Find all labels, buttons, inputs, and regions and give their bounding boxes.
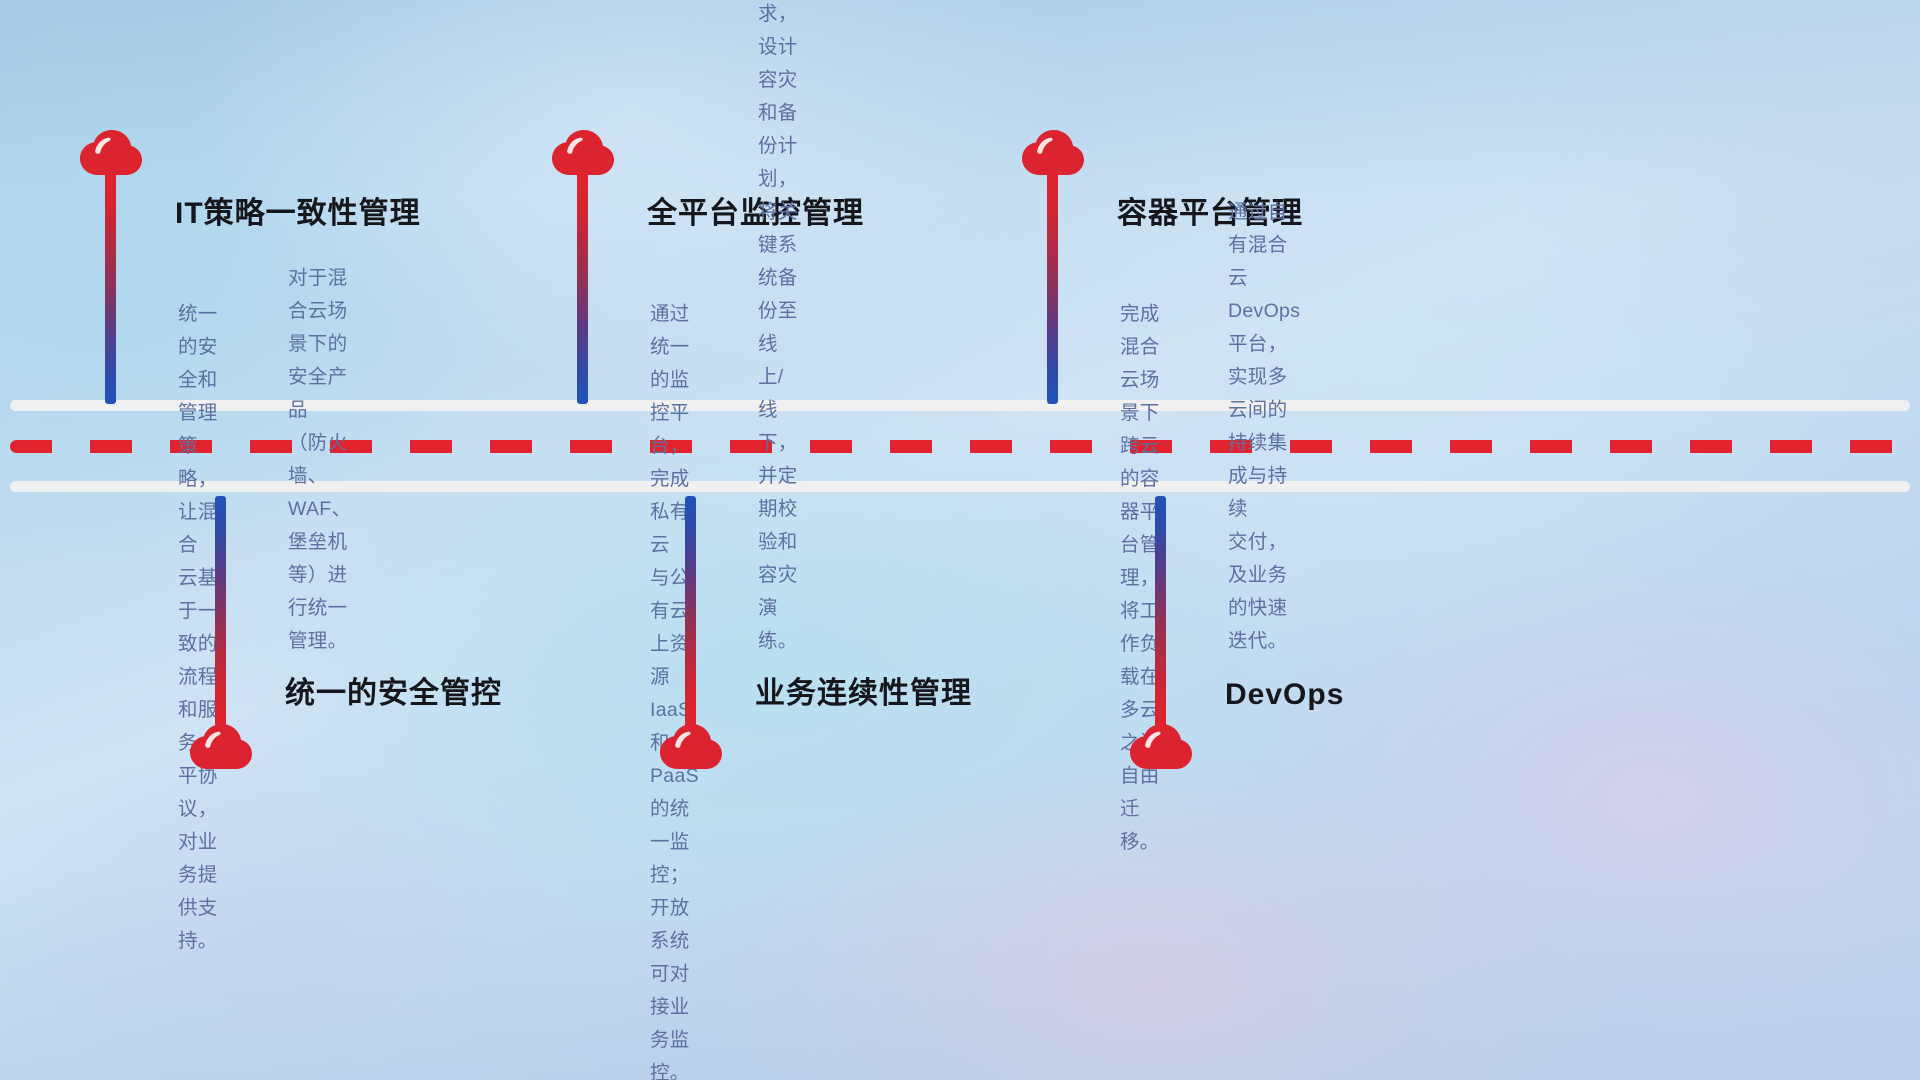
cloud-pin-icon <box>552 130 614 176</box>
item-description: 完成混合云场景下跨云的容器平 台管理，将工作负载在多云之间 自由迁移。 <box>1120 298 1160 859</box>
item-description: 统一的安全和管理策略，让混合 云基于一致的流程和服务水平协 议，对业务提供支持。 <box>178 298 218 958</box>
cloud-pin-icon <box>80 130 142 176</box>
cloud-pin-icon <box>1022 130 1084 176</box>
timeline-stem <box>1047 172 1058 404</box>
timeline-stem <box>577 172 588 404</box>
timeline-stem <box>105 172 116 404</box>
item-title: 统一的安全管控 <box>285 668 502 712</box>
item-description: 通过自有混合云DevOps平台， 实现多云间的持续集成与持续 交付，及业务的快速… <box>1228 196 1300 658</box>
item-title: 全平台监控管理 <box>647 188 864 232</box>
timeline-stem <box>215 496 226 728</box>
cloud-pin-icon <box>660 724 722 770</box>
item-title: DevOps <box>1225 678 1344 712</box>
item-description: 根据业务连续性要求，设计容灾 和备份计划，将关键系统备份至 线上/线下，并定期校… <box>758 0 798 658</box>
item-title: IT策略一致性管理 <box>175 188 421 232</box>
timeline-items: IT策略一致性管理 统一的安全和管理策略，让混合 云基于一致的流程和服务水平协 … <box>0 0 1920 1080</box>
timeline-stem <box>1155 496 1166 728</box>
cloud-pin-icon <box>190 724 252 770</box>
cloud-pin-icon <box>1130 724 1192 770</box>
item-description: 对于混合云场景下的安全产品 （防火墙、WAF、堡垒机等）进 行统一管理。 <box>288 262 351 658</box>
item-title: 业务连续性管理 <box>755 668 972 712</box>
timeline-stem <box>685 496 696 728</box>
